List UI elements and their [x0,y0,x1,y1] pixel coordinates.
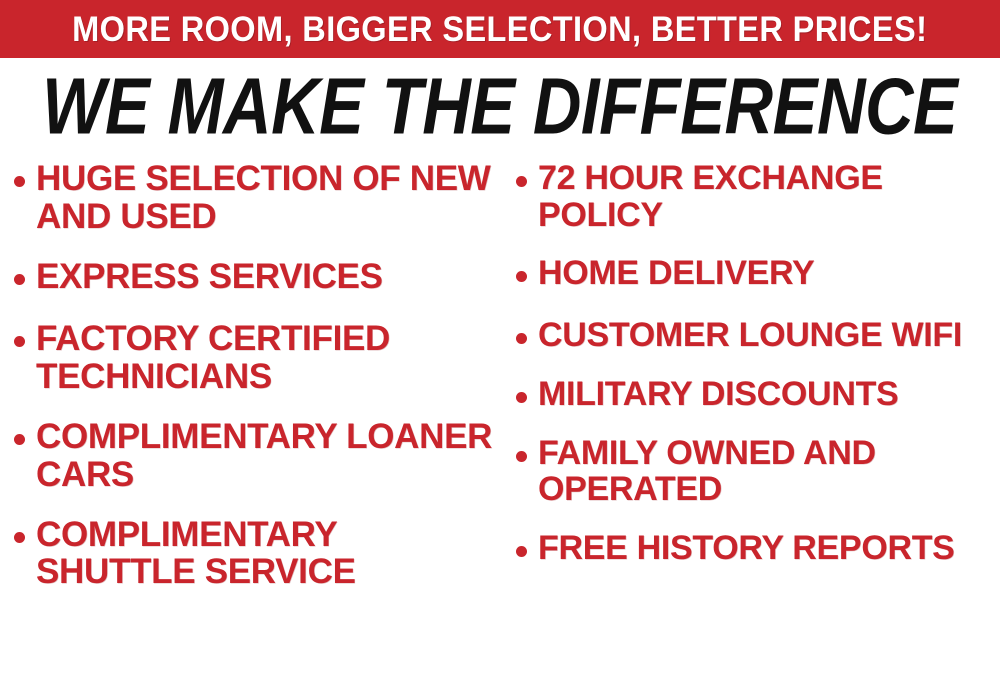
bullet-dot-icon [516,333,527,344]
benefits-column-right: 72 HOUR EXCHANGE POLICY HOME DELIVERY CU… [516,160,1000,694]
list-item-label: CUSTOMER LOUNGE WIFI [538,317,962,354]
benefits-columns: HUGE SELECTION OF NEW AND USED EXPRESS S… [0,160,1000,694]
bullet-dot-icon [516,451,527,462]
list-item-label: EXPRESS SERVICES [36,258,383,296]
bullet-dot-icon [14,274,25,285]
bullet-dot-icon [14,176,25,187]
top-banner: MORE ROOM, BIGGER SELECTION, BETTER PRIC… [0,0,1000,58]
bullet-dot-icon [516,392,527,403]
banner-headline-text: MORE ROOM, BIGGER SELECTION, BETTER PRIC… [72,12,927,47]
list-item-label: 72 HOUR EXCHANGE POLICY [538,160,1000,233]
bullet-dot-icon [14,532,25,543]
bullet-dot-icon [516,176,527,187]
list-item-label: FREE HISTORY REPORTS [538,530,955,567]
bullet-dot-icon [516,271,527,282]
list-item-label: HUGE SELECTION OF NEW AND USED [36,160,500,236]
list-item: MILITARY DISCOUNTS [516,376,1000,413]
headline-section: WE MAKE THE DIFFERENCE [0,62,1000,150]
page-title: WE MAKE THE DIFFERENCE [42,66,957,146]
list-item: EXPRESS SERVICES [14,258,500,296]
bullet-dot-icon [516,546,527,557]
bullet-dot-icon [14,336,25,347]
list-item-label: FAMILY OWNED AND OPERATED [538,435,1000,508]
promotional-poster: MORE ROOM, BIGGER SELECTION, BETTER PRIC… [0,0,1000,694]
list-item: FREE HISTORY REPORTS [516,530,1000,567]
list-item: HOME DELIVERY [516,255,1000,292]
list-item: COMPLIMENTARY SHUTTLE SERVICE [14,516,500,592]
benefits-column-left: HUGE SELECTION OF NEW AND USED EXPRESS S… [14,160,500,694]
list-item-label: FACTORY CERTIFIED TECHNICIANS [36,320,500,396]
list-item-label: COMPLIMENTARY LOANER CARS [36,418,500,494]
bullet-dot-icon [14,434,25,445]
list-item: 72 HOUR EXCHANGE POLICY [516,160,1000,233]
list-item-label: COMPLIMENTARY SHUTTLE SERVICE [36,516,500,592]
list-item: COMPLIMENTARY LOANER CARS [14,418,500,494]
list-item-label: HOME DELIVERY [538,255,814,292]
list-item: HUGE SELECTION OF NEW AND USED [14,160,500,236]
list-item: CUSTOMER LOUNGE WIFI [516,317,1000,354]
list-item: FAMILY OWNED AND OPERATED [516,435,1000,508]
list-item: FACTORY CERTIFIED TECHNICIANS [14,320,500,396]
list-item-label: MILITARY DISCOUNTS [538,376,898,413]
